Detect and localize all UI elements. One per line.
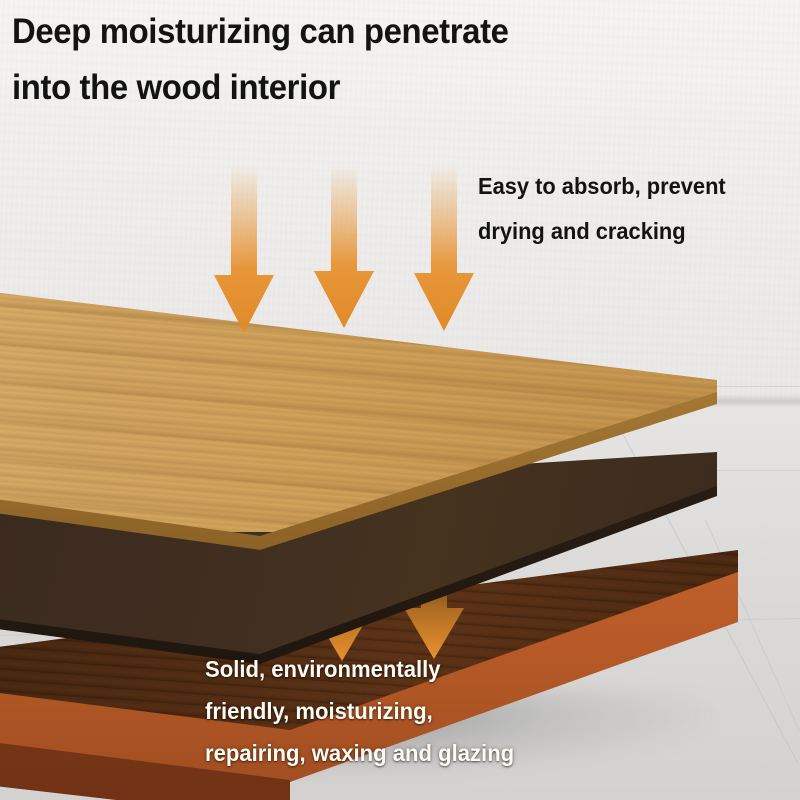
bottom-note-line-1: Solid, environmentally [205, 648, 743, 690]
bottom-note-line-3: repairing, waxing and glazing [205, 732, 743, 774]
bottom-note: Solid, environmentally friendly, moistur… [205, 648, 743, 774]
headline: Deep moisturizing can penetrate into the… [12, 4, 670, 116]
bottom-note-line-2: friendly, moisturizing, [205, 690, 743, 732]
side-note: Easy to absorb, prevent drying and crack… [478, 164, 792, 254]
side-note-line-2: drying and cracking [478, 209, 792, 254]
top-arrow-1 [214, 165, 274, 335]
product-illustration: Deep moisturizing can penetrate into the… [0, 0, 800, 800]
headline-line-1: Deep moisturizing can penetrate [12, 4, 670, 60]
headline-line-2: into the wood interior [12, 60, 670, 116]
top-arrow-2 [314, 165, 374, 330]
top-arrow-3 [414, 165, 474, 333]
side-note-line-1: Easy to absorb, prevent [478, 164, 792, 209]
